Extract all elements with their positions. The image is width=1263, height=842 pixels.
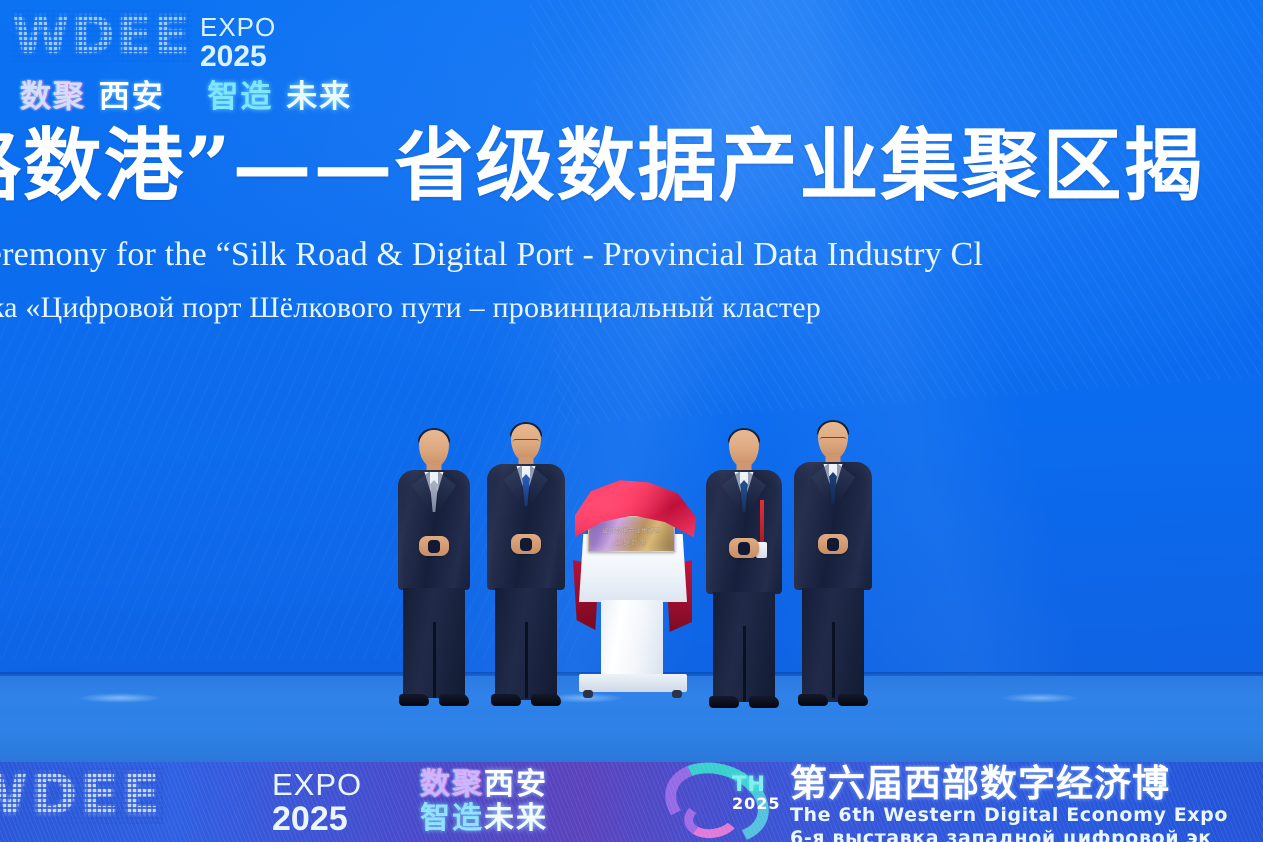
shoes — [709, 696, 779, 709]
shoe-right — [439, 694, 469, 706]
shoe-right — [838, 694, 868, 706]
wdee-wordmark: WDEE — [12, 10, 192, 62]
bottom-led-banner: WDEE EXPO 2025 数聚西安 智造未来 TH 2025 第六届西部数字… — [0, 762, 1263, 842]
caster-wheel-right — [672, 690, 682, 698]
screenshot-root: WDEE EXPO 2025 数聚 西安 智造 未来 路数港”——省级数据产业集… — [0, 0, 1263, 842]
shoe-right — [749, 696, 779, 708]
shoe-left — [798, 694, 828, 706]
person-official-1 — [388, 430, 480, 710]
clasped-hands — [419, 536, 449, 556]
banner-expo-label: EXPO — [272, 767, 362, 802]
eyeglasses — [513, 439, 540, 446]
sixth-edition-logo: TH 2025 — [660, 762, 790, 842]
plaque-line-1: 省级数据产业集聚区 — [589, 526, 674, 535]
banner-wdee-wordmark: WDEE — [0, 768, 163, 824]
headline-chinese: 路数港”——省级数据产业集聚区揭 — [0, 126, 1263, 205]
headline-russian: знака «Цифровой порт Шёлкового пути – пр… — [0, 291, 1263, 324]
clasped-hands — [818, 534, 848, 554]
shoes — [798, 694, 868, 707]
screen-logo: WDEE EXPO 2025 数聚 西安 智造 未来 — [12, 8, 292, 120]
edition-year: 2025 — [732, 794, 781, 813]
banner-tagline-2b: 未来 — [484, 801, 548, 836]
banner-expo-block: EXPO 2025 — [272, 768, 362, 838]
trousers — [713, 592, 775, 702]
shoes — [491, 694, 561, 707]
podium-base — [579, 674, 687, 692]
trousers — [802, 588, 864, 702]
shoes — [399, 694, 469, 707]
head — [419, 430, 449, 467]
tagline-part-1: 数聚 — [20, 79, 86, 115]
shoe-left — [399, 694, 429, 706]
expo-year: 2025 — [200, 41, 276, 73]
shoe-left — [709, 696, 739, 708]
edition-ordinal: TH — [732, 772, 766, 796]
eyeglasses — [820, 437, 847, 444]
tagline-part-4: 未来 — [286, 79, 352, 115]
person-official-4 — [785, 422, 881, 712]
shoe-left — [491, 694, 521, 706]
clasped-hands — [729, 538, 759, 558]
banner-tagline-1a: 数聚 — [420, 767, 484, 802]
banner-tagline-row-1: 数聚西安 — [420, 768, 548, 802]
wall-line-texture-right — [529, 0, 1263, 426]
trousers — [403, 588, 465, 698]
banner-title-chinese: 第六届西部数字经济博 — [790, 764, 1228, 804]
plaque-line-2: 丝路数港 — [589, 538, 674, 547]
trousers — [495, 588, 557, 700]
expo-label-block: EXPO 2025 — [200, 14, 276, 73]
podium-column — [601, 600, 663, 676]
banner-tagline-row-2: 智造未来 — [420, 802, 548, 836]
tagline-part-2: 西安 — [99, 79, 165, 115]
head — [729, 430, 759, 467]
banner-tagline-2a: 智造 — [420, 801, 484, 836]
person-official-3 — [697, 430, 791, 712]
banner-title-russian: 6-я выставка западной цифровой эк — [790, 827, 1228, 842]
clasped-hands — [511, 534, 541, 554]
lanyard — [760, 500, 764, 546]
banner-title-english: The 6th Western Digital Economy Expo — [790, 804, 1228, 827]
unveiling-podium: 省级数据产业集聚区 丝路数港 — [565, 476, 700, 696]
headline-english: g Ceremony for the “Silk Road & Digital … — [0, 236, 1263, 273]
tagline-part-3: 智造 — [207, 79, 273, 115]
banner-expo-year: 2025 — [272, 801, 362, 838]
expo-label: EXPO — [200, 12, 276, 42]
banner-tagline-1b: 西安 — [484, 767, 548, 802]
shoe-right — [531, 694, 561, 706]
person-official-2 — [478, 424, 574, 712]
banner-tagline: 数聚西安 智造未来 — [420, 768, 548, 835]
caster-wheel-left — [583, 690, 593, 698]
banner-event-title: 第六届西部数字经济博 The 6th Western Digital Econo… — [790, 764, 1228, 842]
screen-logo-tagline: 数聚 西安 智造 未来 — [20, 82, 352, 113]
